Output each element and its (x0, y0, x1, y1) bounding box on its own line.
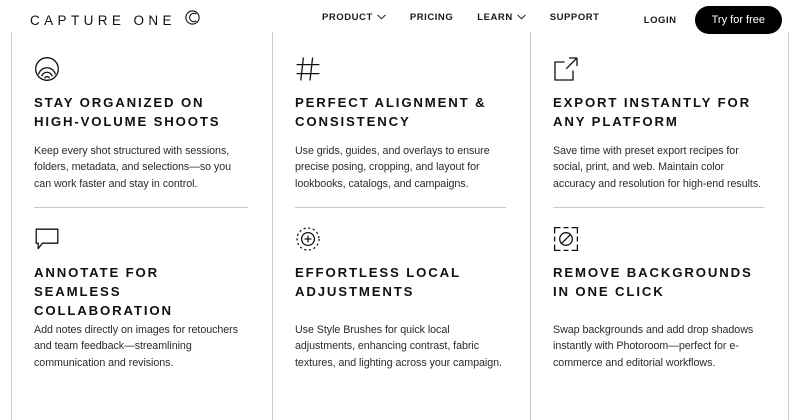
brand-name: CAPTURE ONE (30, 13, 176, 28)
nav-item-pricing[interactable]: PRICING (410, 12, 453, 23)
header-actions: LOGIN Try for free (644, 6, 782, 34)
feature-body: Use grids, guides, and overlays to ensur… (295, 143, 506, 192)
nested-arcs-circle-icon (34, 56, 248, 90)
feature-body: Use Style Brushes for quick local adjust… (295, 322, 504, 371)
login-link[interactable]: LOGIN (644, 15, 677, 26)
feature-title: EFFORTLESS LOCAL ADJUSTMENTS (295, 263, 506, 301)
feature-card-local-adjustments: EFFORTLESS LOCAL ADJUSTMENTS Use Style B… (273, 208, 531, 420)
brand-logo[interactable]: CAPTURE ONE (30, 10, 200, 30)
chevron-down-icon (517, 12, 526, 23)
nav-item-label: PRODUCT (322, 12, 373, 23)
nav-item-label: PRICING (410, 12, 453, 23)
feature-card-perfect-alignment: PERFECT ALIGNMENT & CONSISTENCY Use grid… (273, 32, 531, 208)
feature-body: Swap backgrounds and add drop shadows in… (553, 322, 768, 371)
remove-background-icon (553, 226, 764, 260)
feature-title: REMOVE BACKGROUNDS IN ONE CLICK (553, 263, 764, 301)
feature-title: ANNOTATE FOR SEAMLESS COLLABORATION (34, 263, 248, 320)
speech-bubble-icon (34, 226, 248, 260)
feature-grid: STAY ORGANIZED ON HIGH-VOLUME SHOOTS Kee… (11, 32, 788, 420)
try-for-free-button[interactable]: Try for free (695, 6, 782, 34)
nav-item-label: SUPPORT (550, 12, 600, 23)
feature-card-remove-backgrounds: REMOVE BACKGROUNDS IN ONE CLICK Swap bac… (531, 208, 789, 420)
chevron-down-icon (377, 12, 386, 23)
feature-card-export-instantly: EXPORT INSTANTLY FOR ANY PLATFORM Save t… (531, 32, 789, 208)
capture-one-circle-mark-icon (185, 10, 200, 30)
feature-body: Save time with preset export recipes for… (553, 143, 764, 192)
feature-card-annotate: ANNOTATE FOR SEAMLESS COLLABORATION Add … (12, 208, 273, 420)
grid-hash-icon (295, 56, 506, 90)
feature-body: Keep every shot structured with sessions… (34, 143, 248, 192)
nav-item-product[interactable]: PRODUCT (322, 12, 386, 23)
feature-body: Add notes directly on images for retouch… (34, 322, 246, 371)
nav-item-label: LEARN (477, 12, 512, 23)
main-navigation: PRODUCT PRICING LEARN SUPPORT (322, 12, 600, 23)
feature-title: EXPORT INSTANTLY FOR ANY PLATFORM (553, 93, 764, 131)
feature-title: STAY ORGANIZED ON HIGH-VOLUME SHOOTS (34, 93, 248, 131)
feature-title: PERFECT ALIGNMENT & CONSISTENCY (295, 93, 506, 131)
nav-item-support[interactable]: SUPPORT (550, 12, 600, 23)
nav-item-learn[interactable]: LEARN (477, 12, 525, 23)
feature-card-stay-organized: STAY ORGANIZED ON HIGH-VOLUME SHOOTS Kee… (12, 32, 273, 208)
dashed-circle-plus-icon (295, 226, 506, 260)
external-link-arrow-icon (553, 56, 764, 90)
